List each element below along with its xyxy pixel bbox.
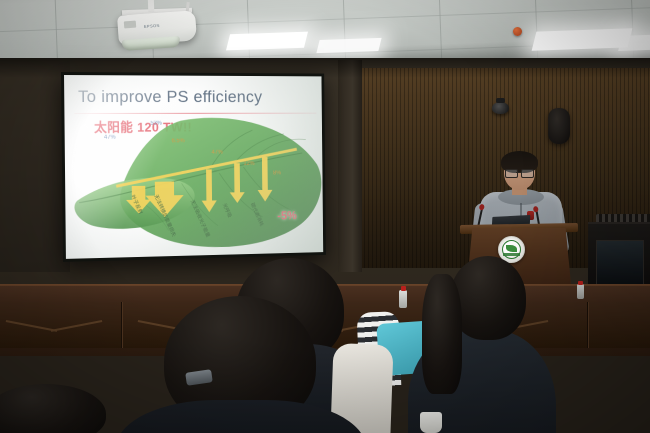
ceiling-light-panel bbox=[618, 34, 650, 51]
leaf-diagram: 53% 47% 6.5% 47% 12% 8% 叶子反射 无法转换的能量损失 无… bbox=[64, 109, 323, 259]
projection-screen: To improve PS efficiency 太阳能 120 TW!! bbox=[64, 75, 323, 259]
water-bottle bbox=[399, 290, 407, 308]
percent-label: 8% bbox=[273, 170, 281, 176]
emblem-leaf-icon bbox=[506, 245, 517, 252]
ceiling-light-panel bbox=[532, 28, 633, 51]
ceiling-camera-icon bbox=[492, 102, 509, 114]
emblem-banner bbox=[503, 253, 520, 256]
percent-label: 47% bbox=[104, 135, 116, 141]
audience-head bbox=[0, 384, 106, 433]
paper-cup bbox=[420, 412, 442, 433]
water-bottle bbox=[577, 284, 584, 299]
eyeglasses-icon bbox=[504, 169, 535, 176]
wall-column bbox=[338, 60, 362, 272]
projector-mount-pole bbox=[148, 0, 155, 12]
desk-front-panel bbox=[588, 302, 650, 348]
leaf-diagram-svg bbox=[64, 109, 323, 259]
av-rack-glass-door bbox=[596, 240, 644, 286]
slide-title: To improve PS efficiency bbox=[78, 87, 315, 107]
lecture-hall-photo: EPSON To improve PS efficiency 太阳能 120 T… bbox=[0, 0, 650, 433]
wall-left-panel bbox=[0, 60, 70, 272]
percent-label: 47% bbox=[212, 150, 223, 156]
projection-screen-frame: To improve PS efficiency 太阳能 120 TW!! bbox=[61, 72, 326, 262]
desk-chevron-motif bbox=[6, 320, 102, 338]
smoke-detector-icon bbox=[513, 27, 522, 36]
ceiling-light-panel bbox=[316, 38, 381, 53]
audience-ponytail bbox=[422, 274, 462, 394]
wall-speaker-icon bbox=[548, 108, 570, 144]
projector-vent bbox=[124, 21, 136, 29]
percent-label: 12% bbox=[243, 161, 254, 167]
negative-percent-label: -5% bbox=[277, 209, 297, 223]
ceiling-light-panel bbox=[226, 32, 308, 51]
percent-label: 53% bbox=[150, 121, 162, 127]
projector-brand-label: EPSON bbox=[144, 23, 160, 29]
percent-label: 6.5% bbox=[172, 138, 185, 144]
